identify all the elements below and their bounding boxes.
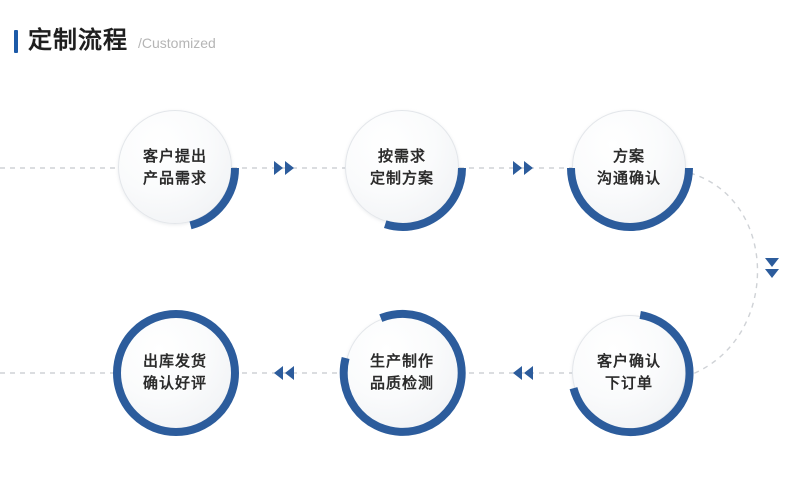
step-label-line1: 客户提出 — [143, 148, 207, 165]
step-label: 客户提出 产品需求 — [118, 110, 232, 224]
triangle-down-icon — [765, 269, 779, 278]
triangle-right-icon — [513, 161, 522, 175]
step-label-line1: 客户确认 — [597, 353, 661, 370]
triangle-right-icon — [524, 161, 533, 175]
triangle-left-icon — [274, 366, 283, 380]
arrow-right-icon-step1-step2 — [274, 161, 294, 175]
section-header: 定制流程 /Customized — [14, 26, 216, 58]
step-label-line2: 产品需求 — [143, 170, 207, 187]
flow-step-2[interactable]: 按需求 定制方案 — [345, 110, 461, 226]
page-subtitle: /Customized — [138, 28, 216, 58]
triangle-down-icon — [765, 258, 779, 267]
step-label: 生产制作 品质检测 — [345, 315, 459, 429]
flow-step-5[interactable]: 生产制作 品质检测 — [345, 315, 461, 431]
arrow-down-icon-step3-step4 — [765, 258, 779, 278]
step-label-line2: 沟通确认 — [597, 170, 661, 187]
step-label-line2: 定制方案 — [370, 170, 434, 187]
accent-bar — [14, 30, 18, 53]
flow-step-3[interactable]: 方案 沟通确认 — [572, 110, 688, 226]
flow-step-6[interactable]: 出库发货 确认好评 — [118, 315, 234, 431]
step-label-line1: 生产制作 — [370, 353, 434, 370]
step-label: 出库发货 确认好评 — [118, 315, 232, 429]
step-label-line2: 品质检测 — [370, 375, 434, 392]
flow-step-1[interactable]: 客户提出 产品需求 — [118, 110, 234, 226]
step-label: 方案 沟通确认 — [572, 110, 686, 224]
step-label: 按需求 定制方案 — [345, 110, 459, 224]
triangle-right-icon — [285, 161, 294, 175]
page-title: 定制流程 — [28, 26, 128, 56]
triangle-right-icon — [274, 161, 283, 175]
dashed-curve-3-4 — [690, 173, 758, 375]
step-label-line2: 下订单 — [605, 375, 653, 392]
step-label-line1: 按需求 — [378, 148, 426, 165]
triangle-left-icon — [513, 366, 522, 380]
arrow-left-icon-step4-step5 — [513, 366, 533, 380]
arrow-right-icon-step2-step3 — [513, 161, 533, 175]
triangle-left-icon — [524, 366, 533, 380]
step-label-line1: 方案 — [613, 148, 645, 165]
step-label-line1: 出库发货 — [143, 353, 207, 370]
step-label: 客户确认 下订单 — [572, 315, 686, 429]
arrow-left-icon-step5-step6 — [274, 366, 294, 380]
step-label-line2: 确认好评 — [143, 375, 207, 392]
triangle-left-icon — [285, 366, 294, 380]
flow-step-4[interactable]: 客户确认 下订单 — [572, 315, 688, 431]
